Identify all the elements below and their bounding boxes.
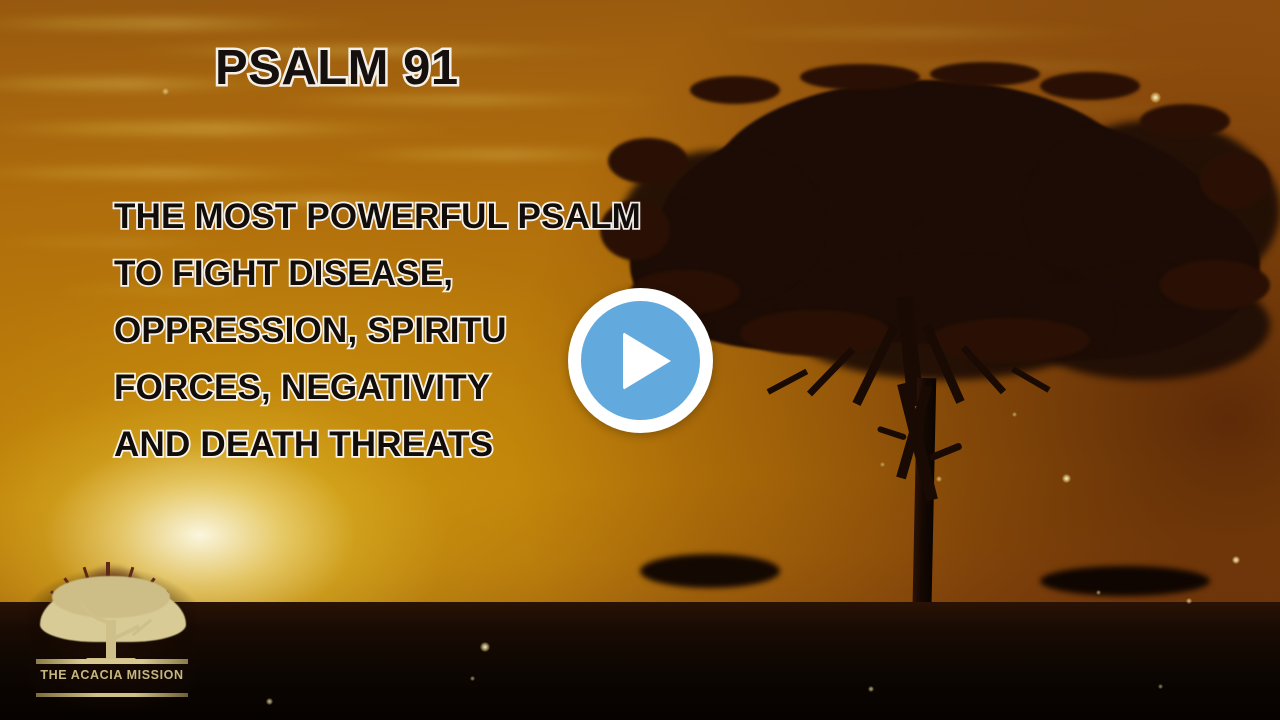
brand-name: THE ACACIA MISSION xyxy=(36,668,188,682)
logo-divider-top xyxy=(36,659,188,664)
subtitle-line-3: OPPRESSION, SPIRITU xyxy=(114,302,641,359)
play-button-circle[interactable] xyxy=(581,301,700,420)
subtitle-line-2: TO FIGHT DISEASE, xyxy=(114,245,641,302)
channel-logo[interactable]: THE ACACIA MISSION xyxy=(28,562,196,710)
page-title: PSALM 91 xyxy=(215,40,459,96)
logo-tree-canopy-top xyxy=(52,576,170,618)
logo-tree-trunk xyxy=(106,620,116,662)
distant-tree-cluster-2 xyxy=(1040,566,1210,596)
subtitle-line-4: FORCES, NEGATIVITY xyxy=(114,359,641,416)
distant-tree-cluster xyxy=(640,554,780,588)
play-triangle-icon xyxy=(623,332,671,390)
play-button[interactable] xyxy=(568,288,713,433)
subtitle-block: THE MOST POWERFUL PSALM TO FIGHT DISEASE… xyxy=(114,188,641,473)
video-thumbnail: PSALM 91 THE MOST POWERFUL PSALM TO FIGH… xyxy=(0,0,1280,720)
logo-divider-bottom xyxy=(36,693,188,697)
subtitle-line-5: AND DEATH THREATS xyxy=(114,416,641,473)
subtitle-line-1: THE MOST POWERFUL PSALM xyxy=(114,188,641,245)
